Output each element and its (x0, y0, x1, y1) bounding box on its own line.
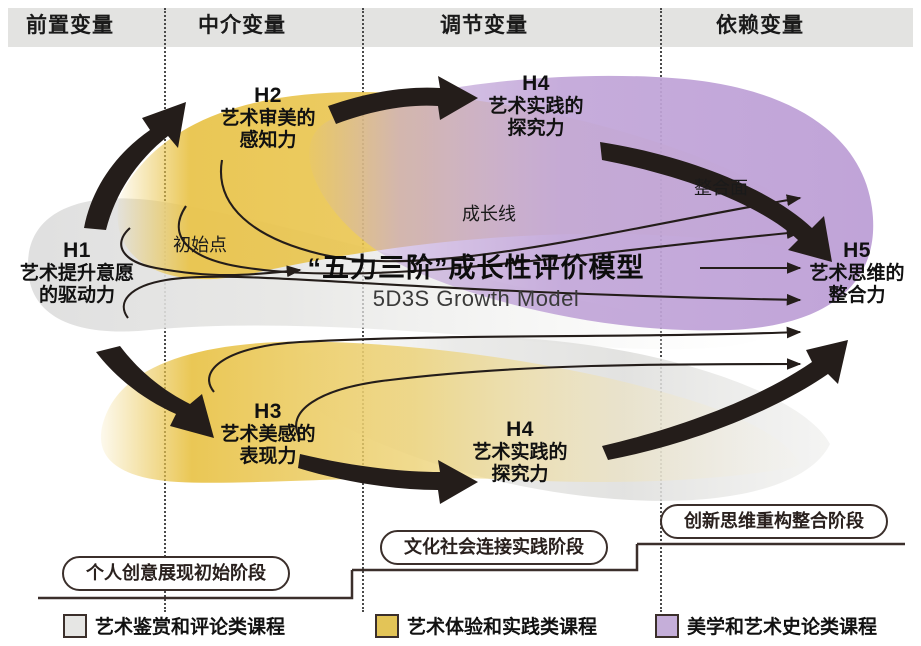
legend-item-appreciation[interactable]: 艺术鉴赏和评论类课程 (63, 612, 285, 639)
legend-swatch-gray-icon (63, 614, 87, 638)
diagram-root: 前置变量 中介变量 调节变量 依赖变量 (0, 0, 921, 646)
legend: 艺术鉴赏和评论类课程 艺术体验和实践类课程 美学和艺术史论类课程 (0, 608, 921, 642)
legend-label-appreciation: 艺术鉴赏和评论类课程 (95, 612, 285, 639)
annotation-initial-point: 初始点 (173, 231, 227, 257)
node-h4-lower-line1: 艺术实践的 (448, 442, 592, 464)
node-h5-line1: 艺术思维的 (794, 263, 920, 285)
legend-label-aesthetics: 美学和艺术史论类课程 (687, 612, 877, 639)
node-h5-line2: 整合力 (794, 285, 920, 307)
node-h5-code: H5 (794, 239, 920, 263)
node-h2-code: H2 (196, 84, 340, 108)
node-h4-lower: H4 艺术实践的 探究力 (448, 418, 592, 486)
model-title-en: 5D3S Growth Model (276, 286, 676, 312)
annotation-growth-line: 成长线 (462, 200, 516, 226)
node-h1-line2: 的驱动力 (2, 285, 152, 307)
node-h3-line2: 表现力 (196, 446, 340, 468)
model-title: “五力三阶”成长性评价模型 5D3S Growth Model (276, 246, 676, 312)
legend-swatch-yellow-icon (375, 614, 399, 638)
node-h3-line1: 艺术美感的 (196, 424, 340, 446)
node-h1-code: H1 (2, 239, 152, 263)
node-h4-lower-code: H4 (448, 418, 592, 442)
node-h4-upper-line2: 探究力 (464, 118, 608, 140)
node-h4-upper-line1: 艺术实践的 (464, 96, 608, 118)
stage-pill-1[interactable]: 个人创意展现初始阶段 (62, 556, 290, 591)
node-h2: H2 艺术审美的 感知力 (196, 84, 340, 152)
legend-swatch-purple-icon (655, 614, 679, 638)
node-h4-lower-line2: 探究力 (448, 464, 592, 486)
annotation-integration-plane: 整合面 (694, 174, 748, 200)
node-h2-line1: 艺术审美的 (196, 108, 340, 130)
node-h1-line1: 艺术提升意愿 (2, 263, 152, 285)
node-h3-code: H3 (196, 400, 340, 424)
stage-pill-2[interactable]: 文化社会连接实践阶段 (380, 530, 608, 565)
legend-item-aesthetics[interactable]: 美学和艺术史论类课程 (655, 612, 877, 639)
node-h3: H3 艺术美感的 表现力 (196, 400, 340, 468)
node-h5: H5 艺术思维的 整合力 (794, 239, 920, 307)
node-h1: H1 艺术提升意愿 的驱动力 (2, 239, 152, 307)
model-title-zh: “五力三阶”成长性评价模型 (276, 246, 676, 285)
node-h2-line2: 感知力 (196, 130, 340, 152)
node-h4-upper-code: H4 (464, 72, 608, 96)
node-h4-upper: H4 艺术实践的 探究力 (464, 72, 608, 140)
legend-item-practice[interactable]: 艺术体验和实践类课程 (375, 612, 597, 639)
legend-label-practice: 艺术体验和实践类课程 (407, 612, 597, 639)
stage-pill-3[interactable]: 创新思维重构整合阶段 (660, 504, 888, 539)
